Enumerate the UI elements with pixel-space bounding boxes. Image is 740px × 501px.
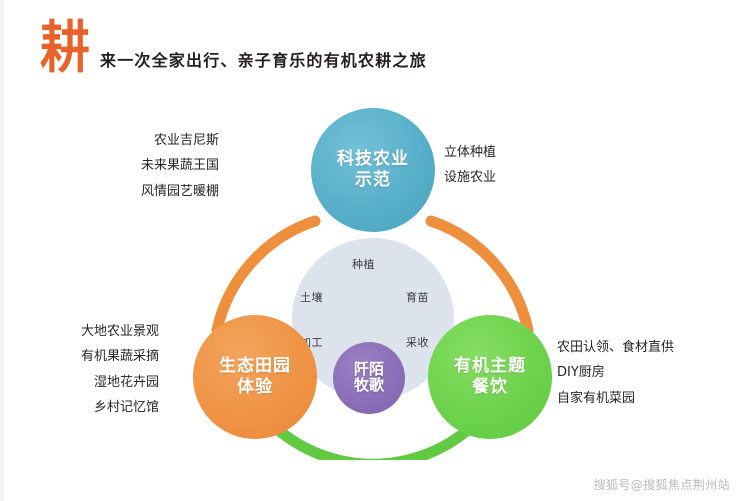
node-organic-dining[interactable]: 有机主题 餐饮 — [428, 315, 552, 439]
page-root: 耕 来一次全家出行、亲子育乐的有机农耕之旅 种植 土壤 加工 育苗 采收 展示 … — [0, 0, 740, 501]
inner-label-soil: 土壤 — [300, 289, 323, 305]
inner-label-planting: 种植 — [352, 256, 375, 272]
label-item: 湿地花卉园 — [4, 370, 159, 395]
label-item: 设施农业 — [444, 165, 496, 190]
node-eco-line-1: 生态田园 — [219, 356, 291, 377]
labels-eco: 大地农业景观 有机果蔬采摘 湿地花卉园 乡村记忆馆 — [4, 319, 159, 420]
label-item: 乡村记忆馆 — [4, 395, 159, 420]
node-tech-line-2: 示范 — [337, 170, 409, 191]
label-item: DIY厨房 — [557, 360, 674, 385]
page-title: 来一次全家出行、亲子育乐的有机农耕之旅 — [100, 47, 427, 76]
node-tech-line-1: 科技农业 — [337, 149, 409, 170]
node-eco-line-2: 体验 — [219, 377, 291, 398]
node-food-line-1: 有机主题 — [454, 356, 526, 377]
labels-tech-right: 立体种植 设施农业 — [444, 140, 496, 191]
node-tech-agriculture[interactable]: 科技农业 示范 — [311, 108, 435, 232]
label-item: 农业吉尼斯 — [64, 128, 219, 153]
node-food-line-2: 餐饮 — [454, 377, 526, 398]
label-item: 风情园艺暖棚 — [64, 179, 219, 204]
labels-food: 农田认领、食材直供 DIY厨房 自家有机菜园 — [557, 335, 674, 411]
watermark: 搜狐号@搜狐焦点荆州站 — [594, 476, 730, 493]
arc-green-bottom — [276, 428, 470, 460]
core-line-2: 牧歌 — [354, 378, 384, 394]
label-item: 自家有机菜园 — [557, 386, 674, 411]
core-brand-circle[interactable]: 阡陌 牧歌 — [333, 342, 405, 414]
node-eco-countryside[interactable]: 生态田园 体验 — [193, 315, 317, 439]
label-item: 大地农业景观 — [4, 319, 159, 344]
inner-label-seedling: 育苗 — [406, 289, 429, 305]
labels-tech-left: 农业吉尼斯 未来果蔬王国 风情园艺暖棚 — [64, 128, 219, 204]
inner-label-harvest: 采收 — [406, 334, 429, 350]
page-header: 耕 来一次全家出行、亲子育乐的有机农耕之旅 — [40, 16, 427, 76]
label-item: 立体种植 — [444, 140, 496, 165]
logo-glyph: 耕 — [40, 20, 88, 76]
label-item: 农田认领、食材直供 — [557, 335, 674, 360]
venn-diagram: 种植 土壤 加工 育苗 采收 展示 阡陌 牧歌 科技农业 示范 生态田园 体验 — [4, 80, 740, 460]
label-item: 有机果蔬采摘 — [4, 344, 159, 369]
label-item: 未来果蔬王国 — [64, 153, 219, 178]
